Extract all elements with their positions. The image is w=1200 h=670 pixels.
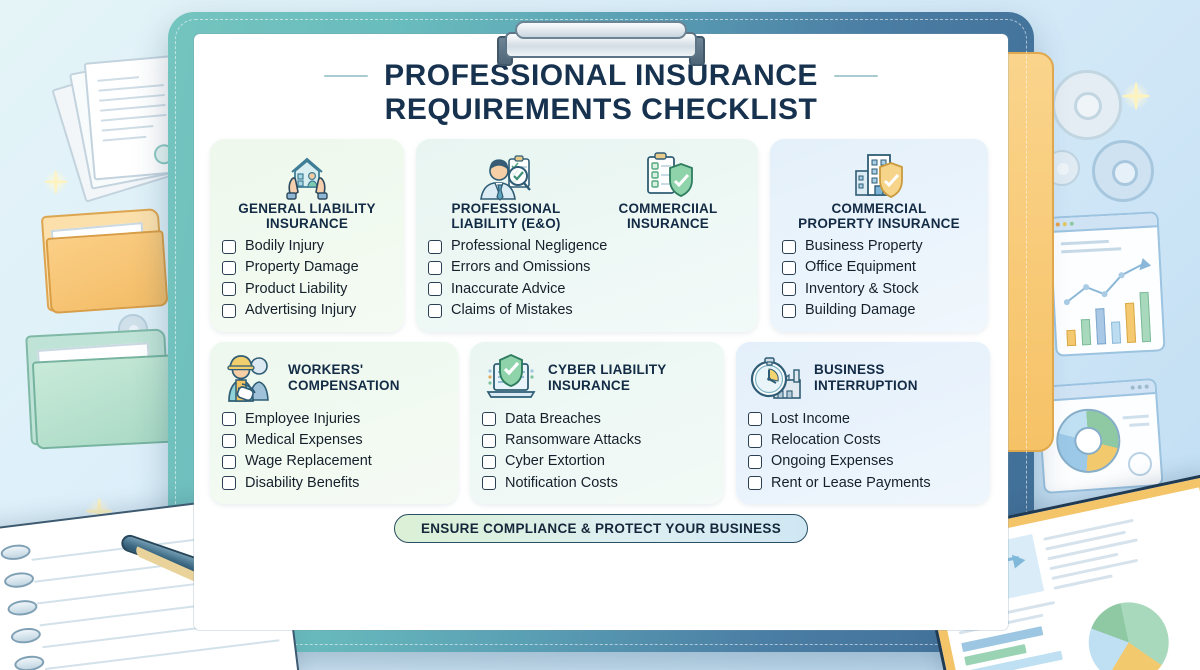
card-professional-liability-eo[interactable]: PROFESSIONAL LIABILITY (E&O) [428,149,584,231]
checkbox[interactable] [748,434,762,448]
list-item[interactable]: Relocation Costs [748,432,978,449]
injured-worker-icon [222,352,280,404]
title-rule-left [324,75,368,77]
checklist-items: Business Property Office Equipment Inven… [782,238,976,320]
list-item[interactable]: Advertising Injury [222,302,392,319]
checkbox[interactable] [428,240,442,254]
checkbox[interactable] [222,434,236,448]
checkbox[interactable] [748,455,762,469]
list-item[interactable]: Ransomware Attacks [482,432,712,449]
card-title: BUSINESS INTERRUPTION [814,362,918,392]
list-item[interactable]: Employee Injuries [222,411,446,428]
checklist-screen: PROFESSIONAL INSURANCE REQUIREMENTS CHEC… [194,34,1008,630]
list-item[interactable]: Lost Income [748,411,978,428]
list-item[interactable]: Business Property [782,238,976,255]
sparkle-icon [1122,82,1150,110]
analytics-browser-window-icon [1048,211,1165,357]
tablet-clipboard-frame: PROFESSIONAL INSURANCE REQUIREMENTS CHEC… [168,12,1034,652]
checkbox[interactable] [428,282,442,296]
list-item[interactable]: Ongoing Expenses [748,453,978,470]
clipboard-shield-icon [639,149,697,201]
checkbox[interactable] [782,304,796,318]
building-shield-icon [850,149,908,201]
list-item[interactable]: Rent or Lease Payments [748,475,978,492]
card-professional-liability-and-commercial[interactable]: PROFESSIONAL LIABILITY (E&O) [416,139,758,332]
list-item[interactable]: Building Damage [782,302,976,319]
checkbox[interactable] [748,412,762,426]
donut-chart-browser-window-icon [1036,378,1163,494]
gear-icon [1052,70,1122,140]
checkbox[interactable] [222,261,236,275]
bottom-card-row: WORKERS' COMPENSATION Employee Injuries … [194,332,1008,505]
title-line-2: REQUIREMENTS CHECKLIST [385,94,818,126]
list-item[interactable]: Wage Replacement [222,453,446,470]
orange-folder-icon [44,212,172,322]
card-title: COMMERCIIAL INSURANCE [619,201,718,231]
list-item[interactable]: Property Damage [222,259,392,276]
checklist-items: Professional Negligence Errors and Omiss… [428,238,746,320]
gear-icon [118,314,148,344]
list-item[interactable]: Bodily Injury [222,238,392,255]
checkbox[interactable] [748,476,762,490]
hands-holding-house-icon [278,149,336,201]
checkbox[interactable] [482,455,496,469]
list-item[interactable]: Product Liability [222,281,392,298]
checkbox[interactable] [222,476,236,490]
checkbox[interactable] [428,304,442,318]
card-title: CYBER LIABILITY INSURANCE [548,362,667,392]
stopwatch-factory-icon [748,352,806,404]
list-item[interactable]: Professional Negligence [428,238,746,255]
title-rule-right [834,75,878,77]
footer-banner: ENSURE COMPLIANCE & PROTECT YOUR BUSINES… [394,514,808,543]
checkbox[interactable] [222,412,236,426]
sparkle-icon [44,170,68,194]
poster-canvas: PROFESSIONAL INSURANCE REQUIREMENTS CHEC… [0,0,1200,670]
card-title: WORKERS' COMPENSATION [288,362,400,392]
clipboard-clip-icon [493,18,709,70]
list-item[interactable]: Disability Benefits [222,475,446,492]
list-item[interactable]: Data Breaches [482,411,712,428]
footer-banner-wrap: ENSURE COMPLIANCE & PROTECT YOUR BUSINES… [194,504,1008,543]
top-card-row: GENERAL LIABILITY INSURANCE Bodily Injur… [194,131,1008,332]
card-commercial-property-insurance[interactable]: COMMERCIAL PROPERTY INSURANCE Business P… [770,139,988,332]
laptop-shield-icon [482,352,540,404]
card-business-interruption[interactable]: BUSINESS INTERRUPTION Lost Income Reloca… [736,342,990,505]
card-commerciial-insurance[interactable]: COMMERCIIAL INSURANCE [590,149,746,231]
card-cyber-liability-insurance[interactable]: CYBER LIABILITY INSURANCE Data Breaches … [470,342,724,505]
checkbox[interactable] [482,434,496,448]
list-item[interactable]: Inventory & Stock [782,281,976,298]
checkbox[interactable] [222,240,236,254]
card-workers-compensation[interactable]: WORKERS' COMPENSATION Employee Injuries … [210,342,458,505]
checkbox[interactable] [222,304,236,318]
checkbox[interactable] [222,282,236,296]
checkbox[interactable] [782,261,796,275]
list-item[interactable]: Office Equipment [782,259,976,276]
list-item[interactable]: Notification Costs [482,475,712,492]
agent-with-checklist-icon [477,149,535,201]
checklist-items: Bodily Injury Property Damage Product Li… [222,238,392,320]
checkbox[interactable] [428,261,442,275]
card-general-liability-insurance[interactable]: GENERAL LIABILITY INSURANCE Bodily Injur… [210,139,404,332]
gear-icon [1092,140,1154,202]
card-title: COMMERCIAL PROPERTY INSURANCE [798,201,960,231]
checklist-items: Employee Injuries Medical Expenses Wage … [222,411,446,493]
card-title: PROFESSIONAL LIABILITY (E&O) [451,201,560,231]
card-title: GENERAL LIABILITY INSURANCE [238,201,375,231]
checkbox[interactable] [482,476,496,490]
checkbox[interactable] [222,455,236,469]
list-item[interactable]: Medical Expenses [222,432,446,449]
checkbox[interactable] [782,240,796,254]
checklist-items: Lost Income Relocation Costs Ongoing Exp… [748,411,978,493]
list-item[interactable]: Errors and Omissions [428,259,746,276]
list-item[interactable]: Claims of Mistakes [428,302,746,319]
checkbox[interactable] [482,412,496,426]
green-folder-icon [28,332,178,462]
list-item[interactable]: Inaccurate Advice [428,281,746,298]
list-item[interactable]: Cyber Extortion [482,453,712,470]
checkbox[interactable] [782,282,796,296]
checklist-items: Data Breaches Ransomware Attacks Cyber E… [482,411,712,493]
